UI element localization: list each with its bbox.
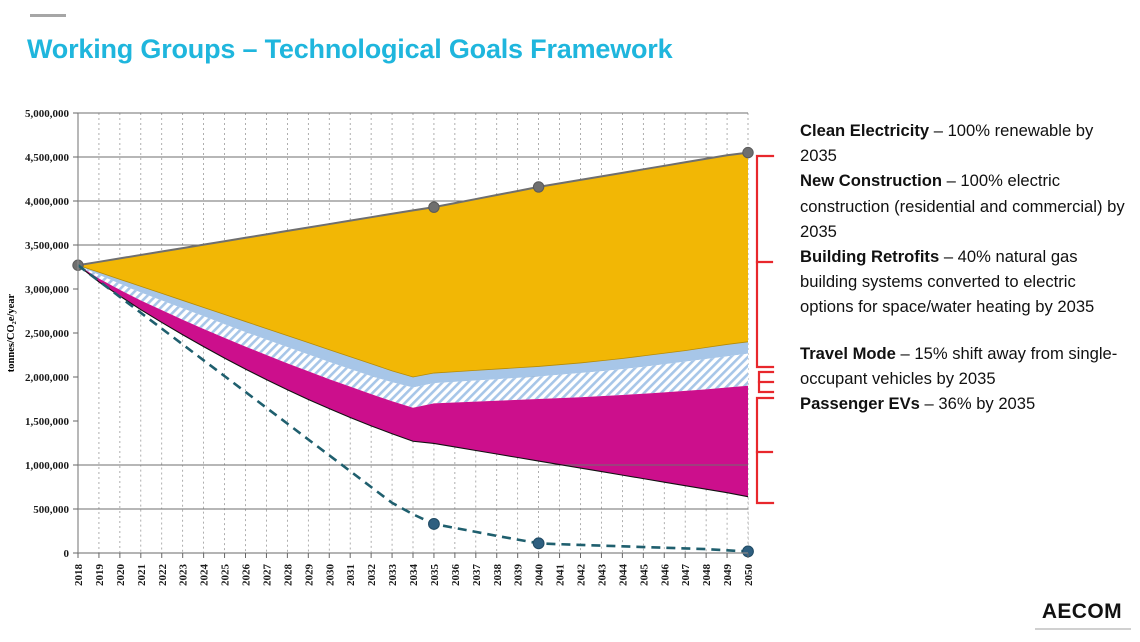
goals-annotations: Clean Electricity – 100% renewable by 20… bbox=[800, 118, 1130, 416]
note-item: Building Retrofits – 40% natural gas bui… bbox=[800, 244, 1130, 320]
y-axis-tick-label: 500,000 bbox=[33, 504, 69, 516]
y-axis-tick-label: 3,000,000 bbox=[25, 284, 70, 296]
note-item: Passenger EVs – 36% by 2035 bbox=[800, 391, 1130, 416]
x-axis-tick-label: 2039 bbox=[513, 564, 525, 587]
note-item-body: – 36% by 2035 bbox=[920, 394, 1035, 413]
x-axis-tick-label: 2037 bbox=[471, 564, 483, 587]
x-axis-tick-label: 2036 bbox=[450, 564, 462, 587]
y-axis-tick-label: 4,000,000 bbox=[25, 196, 70, 208]
y-axis-tick-label: 1,500,000 bbox=[25, 416, 70, 428]
note-item-head: New Construction bbox=[800, 171, 942, 190]
x-axis-tick-label: 2046 bbox=[659, 564, 671, 587]
x-axis-tick-label: 2041 bbox=[555, 564, 567, 586]
bracket-ev bbox=[757, 398, 773, 503]
x-axis-tick-label: 2022 bbox=[157, 564, 169, 587]
slide-canvas: Working Groups – Technological Goals Fra… bbox=[0, 0, 1140, 642]
note-item-head: Travel Mode bbox=[800, 344, 896, 363]
x-axis-tick-label: 2038 bbox=[492, 564, 504, 587]
x-axis-tick-label: 2031 bbox=[345, 564, 357, 586]
x-axis-tick-label: 2043 bbox=[596, 564, 608, 587]
series-marker-bau bbox=[533, 182, 543, 192]
note-item-head: Clean Electricity bbox=[800, 121, 929, 140]
x-axis-tick-label: 2047 bbox=[680, 564, 692, 587]
y-axis-tick-label: 5,000,000 bbox=[25, 108, 70, 120]
footer-rule-decoration bbox=[1035, 628, 1131, 630]
x-axis-tick-label: 2023 bbox=[178, 564, 190, 587]
x-axis-tick-label: 2026 bbox=[241, 564, 253, 587]
chart-svg: 0500,0001,000,0001,500,0002,000,0002,500… bbox=[0, 0, 790, 642]
note-item: Travel Mode – 15% shift away from single… bbox=[800, 341, 1130, 391]
y-axis-tick-label: 2,000,000 bbox=[25, 372, 70, 384]
x-axis-tick-label: 2033 bbox=[387, 564, 399, 587]
x-axis-tick-label: 2028 bbox=[282, 564, 294, 587]
x-axis-tick-label: 2042 bbox=[576, 564, 588, 587]
y-axis-tick-label: 2,500,000 bbox=[25, 328, 70, 340]
aecom-logo: AECOM bbox=[1042, 600, 1122, 624]
x-axis-tick-label: 2027 bbox=[261, 564, 273, 587]
x-axis-tick-label: 2045 bbox=[638, 564, 650, 587]
y-axis-tick-label: 0 bbox=[64, 548, 70, 560]
series-marker-target bbox=[429, 519, 440, 530]
bracket-group bbox=[752, 0, 798, 642]
x-axis-tick-label: 2044 bbox=[617, 564, 629, 587]
note-item: Clean Electricity – 100% renewable by 20… bbox=[800, 118, 1130, 168]
x-axis-tick-label: 2048 bbox=[701, 564, 713, 587]
x-axis-tick-label: 2024 bbox=[199, 564, 211, 587]
x-axis-tick-label: 2034 bbox=[408, 564, 420, 587]
note-group-lower: Travel Mode – 15% shift away from single… bbox=[800, 341, 1130, 417]
y-axis-tick-label: 4,500,000 bbox=[25, 152, 70, 164]
x-axis-tick-label: 2040 bbox=[534, 564, 546, 587]
x-axis-tick-label: 2029 bbox=[303, 564, 315, 587]
series-marker-target bbox=[533, 538, 544, 549]
x-axis-tick-label: 2019 bbox=[94, 564, 106, 587]
note-item-head: Building Retrofits bbox=[800, 247, 939, 266]
y-axis-tick-label: 1,000,000 bbox=[25, 460, 70, 472]
x-axis-tick-label: 2020 bbox=[115, 564, 127, 587]
x-axis-tick-label: 2049 bbox=[722, 564, 734, 587]
emissions-chart: 0500,0001,000,0001,500,0002,000,0002,500… bbox=[0, 0, 790, 642]
note-item: New Construction – 100% electric constru… bbox=[800, 168, 1130, 244]
x-axis-tick-label: 2032 bbox=[366, 564, 378, 587]
x-axis-tick-label: 2018 bbox=[73, 564, 85, 587]
series-marker-bau bbox=[429, 202, 439, 212]
x-axis-tick-label: 2030 bbox=[324, 564, 336, 587]
note-item-head: Passenger EVs bbox=[800, 394, 920, 413]
x-axis-tick-label: 2021 bbox=[136, 564, 148, 586]
note-group-upper: Clean Electricity – 100% renewable by 20… bbox=[800, 118, 1130, 320]
x-axis-tick-label: 2035 bbox=[429, 564, 441, 587]
y-axis-tick-label: 3,500,000 bbox=[25, 240, 70, 252]
x-axis-tick-label: 2025 bbox=[220, 564, 232, 587]
y-axis-title: tonnes/CO₂e/year bbox=[6, 293, 17, 372]
